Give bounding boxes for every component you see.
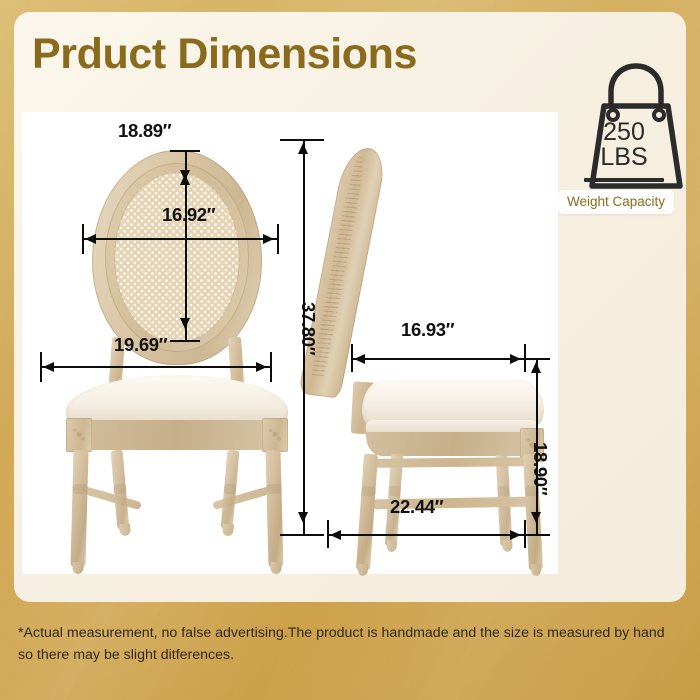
- dimension-label-total-height: 37.80″: [297, 302, 319, 355]
- page-title: Prduct Dimensions: [32, 30, 417, 79]
- leg-back-right: [221, 450, 240, 531]
- cane-webbing-panel: [114, 172, 240, 343]
- chair-front-view: [52, 132, 302, 572]
- dim-line-cane-height: [185, 170, 187, 342]
- seat-apron-side: [366, 432, 542, 456]
- dimension-label-seat-depth: 16.93″: [401, 319, 454, 341]
- dim-tick-sheight-bottom: [514, 534, 550, 536]
- dim-tick-height-top: [280, 139, 324, 141]
- dim-tick-height-bottom: [280, 534, 324, 536]
- side-rail-upper: [374, 457, 532, 468]
- dim-arrow-depth-left: [354, 354, 365, 364]
- leg-back-near-side: [356, 454, 378, 571]
- corner-block-left: [66, 418, 92, 452]
- cane-edge-ribs: [311, 156, 367, 376]
- dimension-label-seat-height: 18.90″: [529, 442, 551, 495]
- dim-arrow-sheight-bottom: [531, 512, 541, 523]
- dimension-label-back-width: 18.89″: [118, 120, 171, 142]
- stretcher-left: [82, 486, 142, 510]
- product-diagram-panel: 18.89″ 16.92″ 19.69″ 37.80″ 16.93″: [22, 112, 558, 574]
- disclaimer-text: *Actual measurement, no false advertisin…: [18, 622, 682, 666]
- weight-capacity-badge: 250 LBS Weight Capacity: [566, 62, 700, 207]
- dim-arrow-sheight-top: [531, 362, 541, 373]
- corner-block-right: [262, 418, 288, 452]
- leg-front-right: [265, 450, 283, 568]
- bag-underline: [584, 178, 664, 182]
- dim-tick-cane-bottom: [170, 340, 200, 342]
- seat-apron: [68, 420, 286, 450]
- dim-arrow-height-top: [298, 143, 308, 154]
- dimension-label-seat-width: 19.69″: [114, 334, 167, 356]
- dim-line-seat-depth: [351, 358, 525, 360]
- weight-capacity-caption: Weight Capacity: [558, 190, 674, 214]
- dim-arrow-cane-left: [85, 234, 96, 244]
- dim-arrow-seatw-left: [43, 362, 54, 372]
- weight-unit: LBS: [566, 145, 682, 170]
- dim-arrow-seatw-right: [256, 362, 267, 372]
- dim-line-seat-width: [40, 366, 271, 368]
- leg-back-left: [111, 450, 130, 531]
- weight-value: 250: [566, 120, 682, 145]
- dim-line-total-height: [303, 139, 305, 535]
- leg-front-left: [70, 450, 88, 568]
- dimension-label-overall-depth: 22.44″: [390, 496, 443, 518]
- dim-arrow-height-bottom: [298, 512, 308, 523]
- dim-line-overall-depth: [327, 534, 525, 536]
- dim-tick-sheight-top: [514, 358, 550, 360]
- dim-line-seat-height: [536, 358, 538, 535]
- product-dimensions-card: Prduct Dimensions: [14, 12, 686, 602]
- dim-arrow-odepth-left: [330, 530, 341, 540]
- chair-back-inner-frame: [105, 163, 249, 352]
- stretcher-right: [212, 486, 272, 510]
- dimension-label-cane-width: 16.92″: [162, 204, 215, 226]
- weight-capacity-value-group: 250 LBS: [566, 120, 682, 170]
- chair-back-frame: [92, 150, 262, 365]
- dim-arrow-cane-right: [263, 234, 274, 244]
- dim-arrow-cane-top: [180, 174, 190, 185]
- dim-arrow-cane-bottom: [180, 318, 190, 329]
- chair-back-profile: [298, 145, 388, 398]
- dim-line-cane-width: [82, 238, 278, 240]
